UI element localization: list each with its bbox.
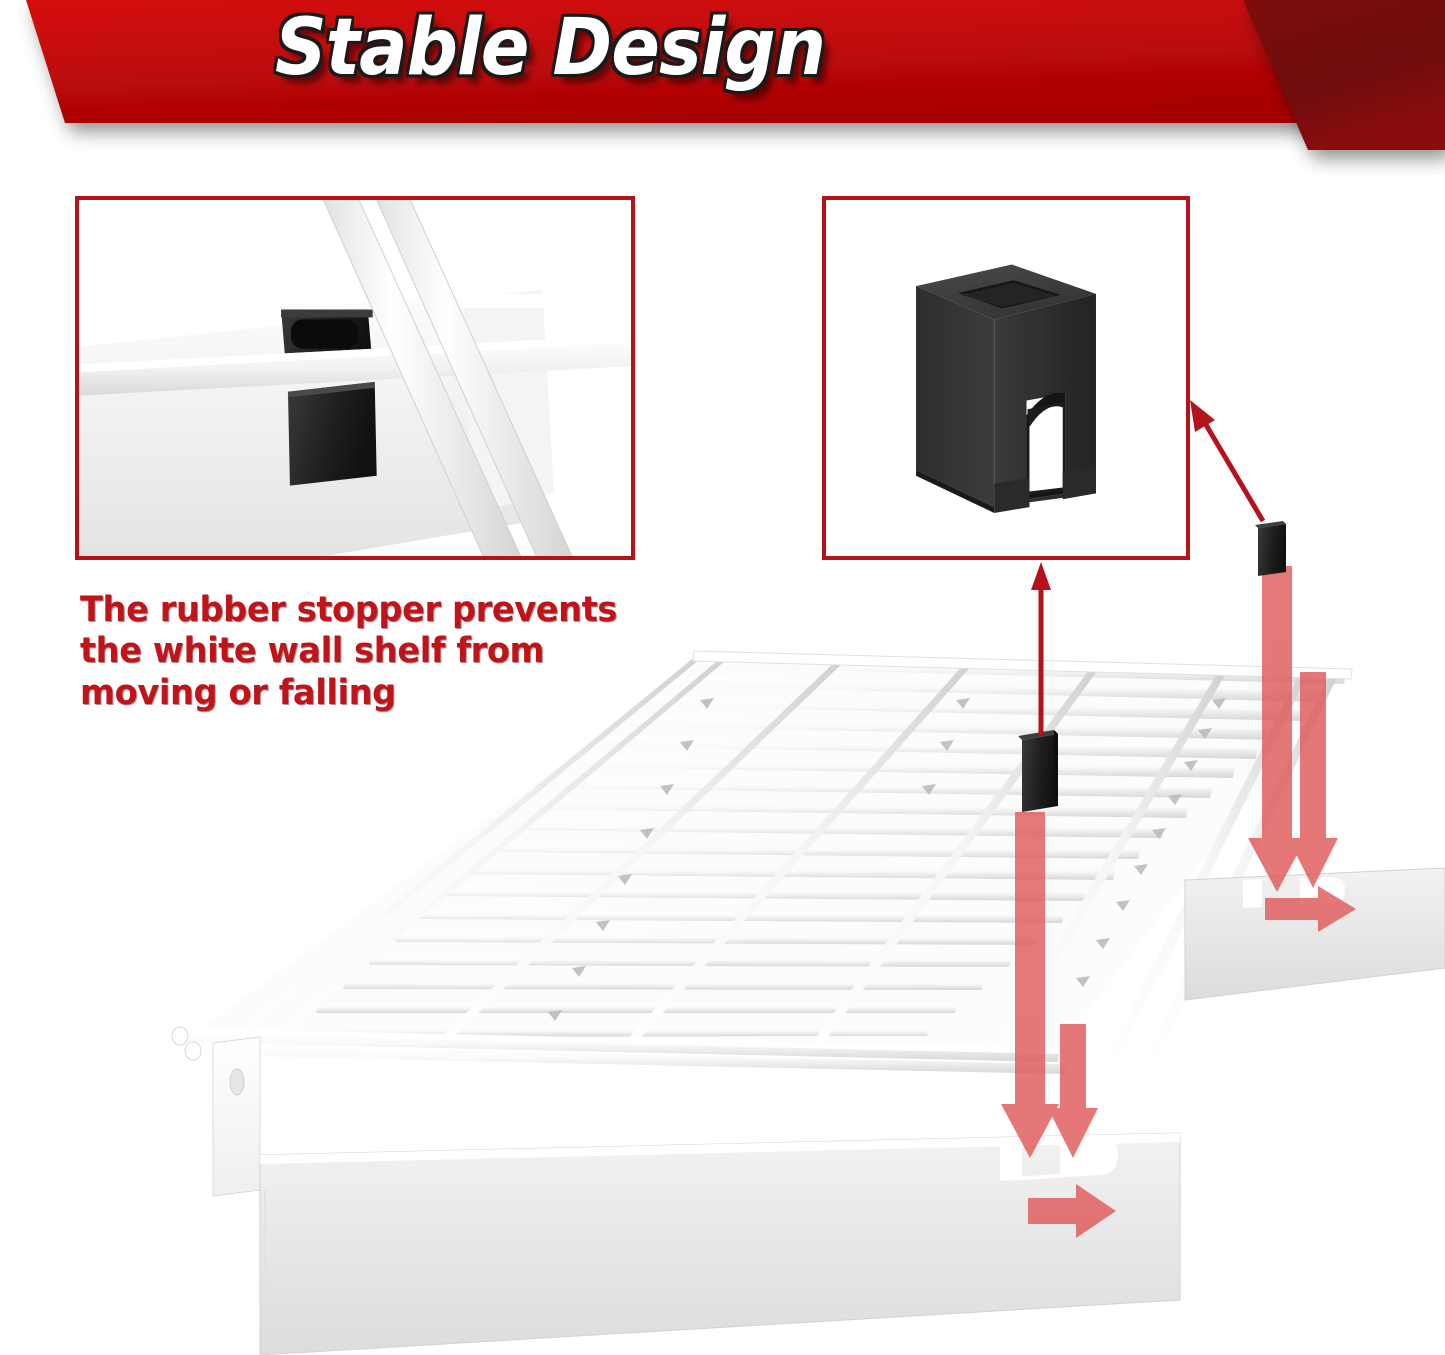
rubber-stopper-on-shelf: [1018, 730, 1058, 812]
shelf-assembly-diagram: [0, 0, 1445, 1355]
shelf-assembly-svg: [0, 0, 1445, 1355]
product-infographic: Stable Design: [0, 0, 1445, 1355]
rubber-stopper-floating: [1255, 521, 1286, 576]
wall-mount-bracket-rear: [1185, 868, 1445, 1000]
white-wire-wall-shelf: [172, 651, 1352, 1074]
